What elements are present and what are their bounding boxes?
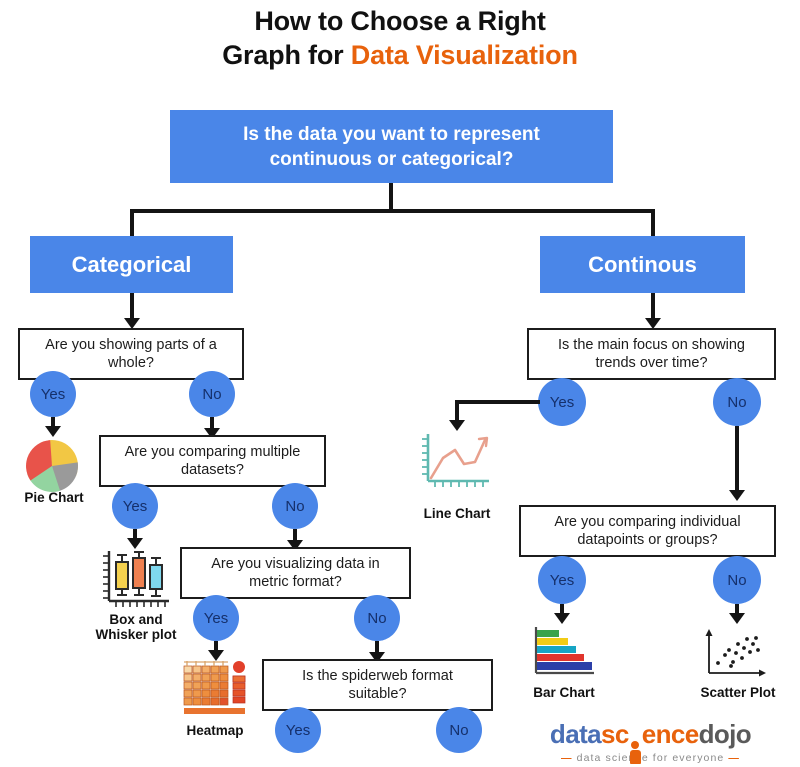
logo-part-ence: ence [642, 719, 699, 749]
title-line-1: How to Choose a Right [0, 4, 800, 38]
outcome-box-whisker-label: Box and Whisker plot [76, 612, 196, 642]
heatmap-icon [178, 658, 253, 720]
question-parts-of-whole-text: Are you showing parts of a whole? [32, 336, 230, 372]
answer-label: No [449, 722, 468, 739]
question-spiderweb-text: Is the spiderweb format suitable? [274, 667, 481, 703]
logo-tagline-dash-right: — [728, 752, 740, 764]
connector-yes-trends-horizontal [455, 400, 540, 404]
root-question-text: Is the data you want to represent contin… [194, 122, 589, 172]
outcome-heatmap-label: Heatmap [160, 723, 270, 738]
arrow-yes-to-pie [45, 426, 61, 437]
answer-yes-trends-over-time[interactable]: Yes [538, 378, 586, 426]
question-individual-or-groups[interactable]: Are you comparing individual datapoints … [519, 505, 776, 557]
answer-no-multiple-datasets[interactable]: No [272, 483, 318, 529]
answer-label: No [727, 572, 746, 589]
outcome-bar-chart-label: Bar Chart [508, 685, 620, 700]
question-metric-format-text: Are you visualizing data in metric forma… [192, 555, 399, 591]
answer-label: No [727, 394, 746, 411]
branch-categorical[interactable]: Categorical [30, 236, 233, 293]
answer-label: Yes [550, 394, 574, 411]
arrow-yes-to-bar-chart [554, 613, 570, 624]
arrow-no-to-scatter-plot [729, 613, 745, 624]
outcome-line-chart-label: Line Chart [401, 506, 513, 521]
answer-yes-multiple-datasets[interactable]: Yes [112, 483, 158, 529]
arrow-yes-to-box-whisker [127, 538, 143, 549]
outcome-label-line2: Whisker plot [76, 627, 196, 642]
question-multiple-datasets[interactable]: Are you comparing multiple datasets? [99, 435, 326, 487]
outcome-label-line1: Box and [76, 612, 196, 627]
connector-to-categorical [130, 209, 134, 237]
connector-no-trends-down [735, 426, 739, 493]
answer-no-spiderweb[interactable]: No [436, 707, 482, 753]
answer-no-individual-or-groups[interactable]: No [713, 556, 761, 604]
title-line-2-prefix: Graph for [222, 40, 351, 70]
branch-continuous[interactable]: Continous [540, 236, 745, 293]
outcome-label-text: Bar Chart [533, 685, 595, 700]
logo-tagline-text: data science for everyone [577, 752, 725, 764]
connector-continuous-down [651, 293, 655, 321]
answer-no-trends-over-time[interactable]: No [713, 378, 761, 426]
bar-chart-icon [524, 625, 602, 683]
answer-label: No [367, 610, 386, 627]
outcome-label-text: Heatmap [186, 723, 243, 738]
answer-label: Yes [41, 386, 65, 403]
title-line-2-accent: Data Visualization [351, 40, 578, 70]
connector-root-down [389, 183, 393, 211]
logo-tagline-dash-left: — [561, 752, 573, 764]
logo-part-sc: sc [601, 719, 629, 749]
answer-label: Yes [286, 722, 310, 739]
answer-yes-metric-format[interactable]: Yes [193, 595, 239, 641]
answer-no-parts-of-whole[interactable]: No [189, 371, 235, 417]
root-question-box[interactable]: Is the data you want to represent contin… [170, 110, 613, 183]
title-line-2: Graph for Data Visualization [0, 38, 800, 72]
branch-continuous-label: Continous [588, 252, 697, 278]
answer-label: Yes [123, 498, 147, 515]
question-multiple-datasets-text: Are you comparing multiple datasets? [111, 443, 314, 479]
outcome-pie-chart-label: Pie Chart [0, 490, 108, 505]
outcome-label-text: Scatter Plot [700, 685, 775, 700]
question-trends-over-time-text: Is the main focus on showing trends over… [539, 336, 764, 372]
scatter-plot-icon [698, 625, 773, 683]
branch-categorical-label: Categorical [72, 252, 192, 278]
box-whisker-icon [100, 549, 172, 611]
line-chart-icon [419, 432, 494, 494]
answer-yes-parts-of-whole[interactable]: Yes [30, 371, 76, 417]
pie-chart-icon [22, 437, 82, 495]
logo-wordmark: datasc encedojo [528, 719, 773, 750]
outcome-label-text: Pie Chart [24, 490, 83, 505]
connector-categorical-down [130, 293, 134, 321]
outcome-scatter-plot-label: Scatter Plot [680, 685, 796, 700]
answer-label: Yes [550, 572, 574, 589]
answer-label: Yes [204, 610, 228, 627]
question-metric-format[interactable]: Are you visualizing data in metric forma… [180, 547, 411, 599]
connector-to-continuous [651, 209, 655, 237]
question-individual-or-groups-text: Are you comparing individual datapoints … [531, 513, 764, 549]
outcome-label-text: Line Chart [424, 506, 491, 521]
connector-root-horizontal [130, 209, 655, 213]
question-trends-over-time[interactable]: Is the main focus on showing trends over… [527, 328, 776, 380]
datasciencedojo-logo[interactable]: datasc encedojo — data science for every… [528, 719, 773, 764]
answer-yes-spiderweb[interactable]: Yes [275, 707, 321, 753]
infographic-canvas: How to Choose a Right Graph for Data Vis… [0, 0, 800, 767]
answer-yes-individual-or-groups[interactable]: Yes [538, 556, 586, 604]
logo-part-dojo: dojo [699, 719, 751, 749]
answer-label: No [285, 498, 304, 515]
page-title: How to Choose a Right Graph for Data Vis… [0, 4, 800, 72]
logo-tagline: — data science for everyone — [528, 752, 773, 764]
answer-no-metric-format[interactable]: No [354, 595, 400, 641]
arrow-no-to-individual-groups [729, 490, 745, 501]
question-spiderweb[interactable]: Is the spiderweb format suitable? [262, 659, 493, 711]
arrow-yes-to-line-chart [449, 420, 465, 431]
answer-label: No [202, 386, 221, 403]
logo-part-data: data [550, 719, 601, 749]
